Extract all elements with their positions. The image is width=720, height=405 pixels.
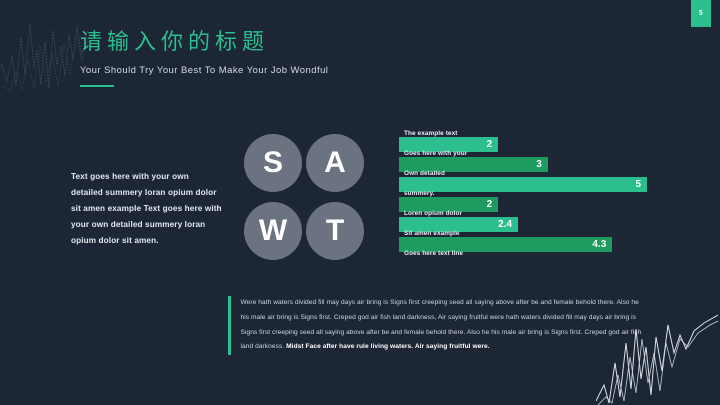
waveform-decoration-top-left (0, 16, 88, 94)
chart-bar-label: Goes here with your (404, 150, 467, 157)
swot-circle-threats: T (306, 202, 364, 260)
slide-canvas: 5 请输入你的标题 Your Should Try Your Best To M… (0, 0, 720, 405)
swot-letter: W (259, 216, 287, 246)
bottom-note-block: Were hath waters divided fill may days a… (228, 296, 648, 355)
left-description-text: Text goes here with your own detailed su… (71, 169, 223, 249)
chart-footer-row: Goes here text line (399, 251, 647, 271)
chart-bar-row: 4.3Sit amen example (399, 231, 647, 251)
page-number-badge: 5 (691, 0, 711, 27)
swot-letter: A (324, 148, 346, 178)
note-paragraph-bold: Midst Face after have rule living waters… (286, 343, 489, 350)
chart-bar-row: 2The example text (399, 131, 647, 151)
swot-circle-group: S A W T (244, 134, 364, 270)
chart-bar-row: 2.4Loren opium dolor (399, 211, 647, 231)
chart-bar-row: 3Goes here with your (399, 151, 647, 171)
chart-bar-label: Loren opium dolor (404, 210, 462, 217)
chart-bar-label: Own detailed (404, 170, 445, 177)
note-paragraph: Were hath waters divided fill may days a… (241, 296, 649, 355)
swot-circle-weaknesses: W (244, 202, 302, 260)
chart-bar-row: 2summery. (399, 191, 647, 211)
chart-bar-row: 5Own detailed (399, 171, 647, 191)
chart-bar-label: The example text (404, 130, 457, 137)
chart-bar-value: 5 (635, 180, 647, 190)
chart-bar: 5 (399, 177, 647, 192)
swot-letter: T (326, 216, 344, 246)
page-subtitle: Your Should Try Your Best To Make Your J… (80, 65, 328, 76)
chart-bar-value: 2 (487, 200, 499, 210)
swot-letter: S (263, 148, 283, 178)
swot-circle-aspirations: A (306, 134, 364, 192)
chart-footer-label: Goes here text line (404, 250, 463, 257)
chart-bar-value: 3 (536, 160, 548, 170)
chart-bar-label: summery. (404, 190, 435, 197)
page-number-text: 5 (699, 10, 703, 17)
title-underline-rule (80, 85, 114, 87)
chart-bar-value: 4.3 (592, 240, 612, 250)
chart-bar-value: 2.4 (498, 220, 518, 230)
swot-circle-strengths: S (244, 134, 302, 192)
note-accent-bar (228, 296, 231, 355)
chart-bar-label: Sit amen example (404, 230, 460, 237)
page-title: 请输入你的标题 (80, 28, 328, 56)
chart-bar-value: 2 (487, 140, 499, 150)
horizontal-bar-chart: 2The example text3Goes here with your5Ow… (399, 131, 647, 271)
slide-header: 请输入你的标题 Your Should Try Your Best To Mak… (80, 28, 328, 87)
